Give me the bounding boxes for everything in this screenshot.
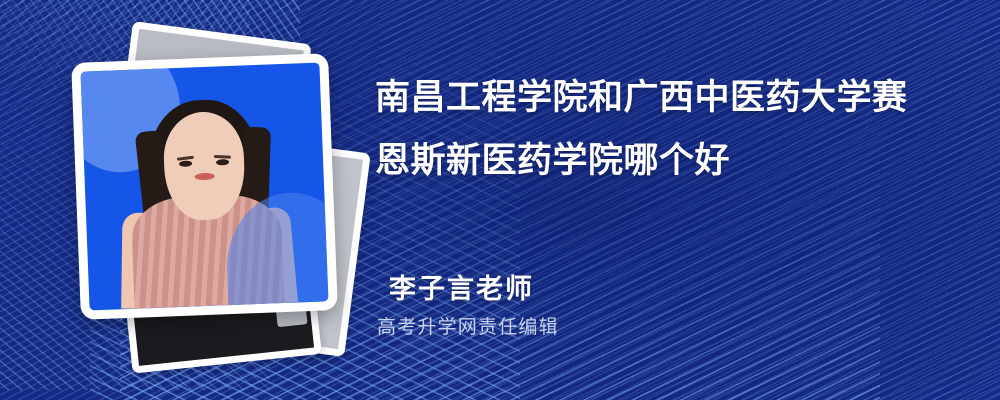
portrait-mouth [194,173,214,181]
author-name: 李子言老师 [389,272,559,306]
page-title-line-1: 南昌工程学院和广西中医药大学赛 [375,66,976,129]
photo-card-stack [58,34,358,364]
article-banner: 南昌工程学院和广西中医药大学赛 恩斯新医药学院哪个好 李子言老师 高考升学网责任… [0,0,1000,400]
portrait-arm-right [263,206,298,304]
portrait-illustration [81,63,329,311]
portrait-eyebrow-left [176,155,193,160]
page-title-line-2: 恩斯新医药学院哪个好 [375,129,976,192]
banner-content: 南昌工程学院和广西中医药大学赛 恩斯新医药学院哪个好 李子言老师 高考升学网责任… [375,0,976,400]
author-photo-card [71,53,338,320]
page-title: 南昌工程学院和广西中医药大学赛 恩斯新医药学院哪个好 [375,66,976,192]
author-block: 李子言老师 高考升学网责任编辑 [389,272,559,340]
portrait-eye-left [178,160,191,166]
portrait-eye-right [215,159,228,165]
author-photo [81,63,329,311]
portrait-eyebrow-right [213,154,230,158]
author-role: 高考升学网责任编辑 [377,316,559,340]
